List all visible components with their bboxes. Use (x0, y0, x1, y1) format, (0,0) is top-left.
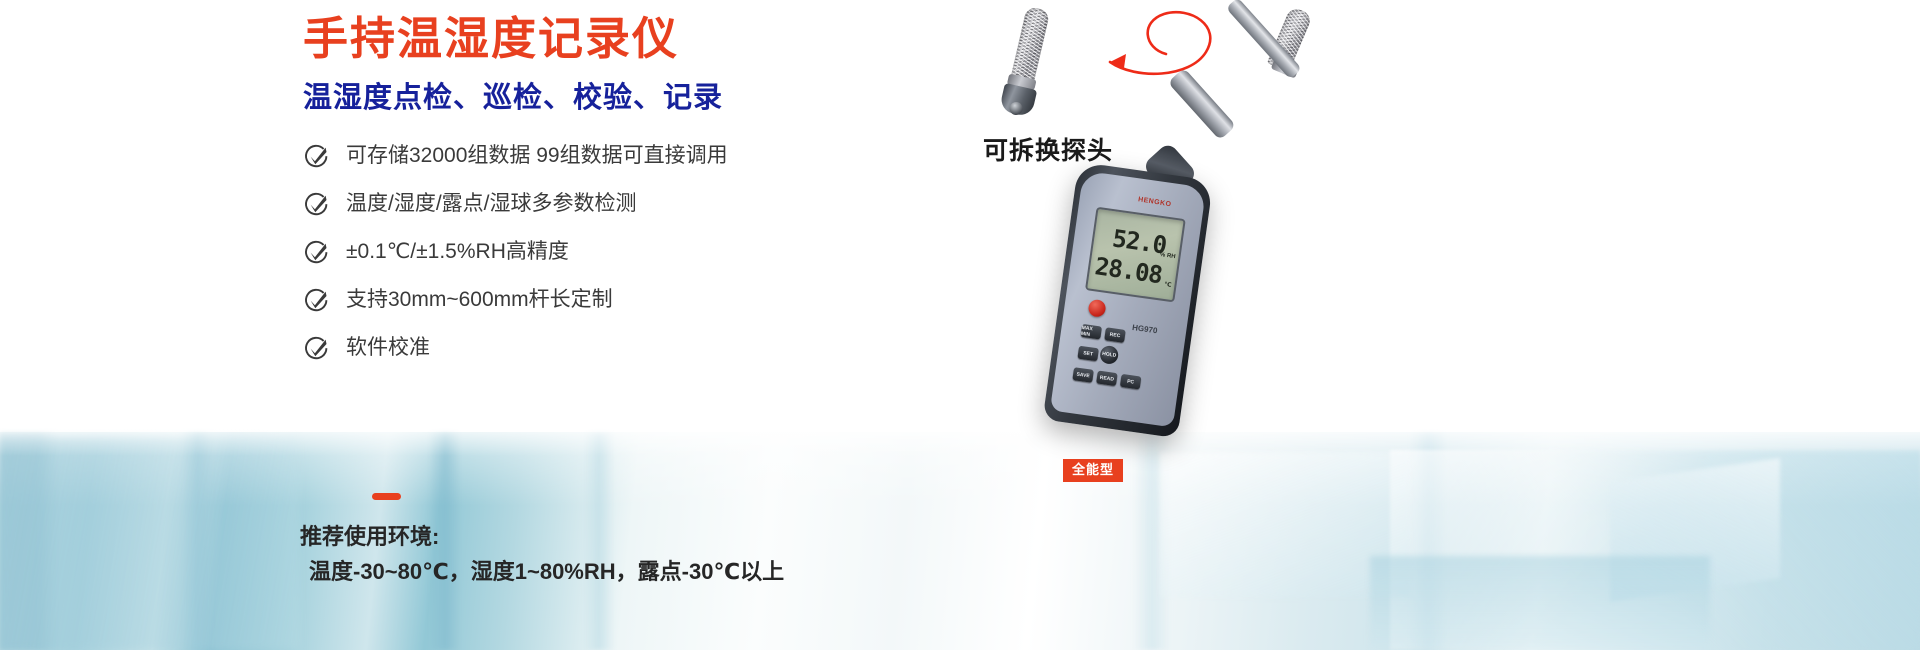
brand-logo: HENGKO (1138, 196, 1172, 208)
page-subtitle: 温湿度点检、巡检、校验、记录 (303, 80, 723, 116)
check-circle-icon (303, 143, 330, 170)
list-item-label: 可存储32000组数据 99组数据可直接调用 (346, 143, 728, 169)
check-circle-icon (303, 287, 330, 314)
list-item-label: ±0.1℃/±1.5%RH高精度 (346, 239, 569, 265)
list-item: ±0.1℃/±1.5%RH高精度 (303, 228, 923, 276)
key-read[interactable]: READ (1096, 370, 1118, 386)
list-item: 可存储32000组数据 99组数据可直接调用 (303, 132, 923, 180)
red-divider-dash (372, 493, 401, 500)
list-item-label: 支持30mm~600mm杆长定制 (346, 287, 613, 313)
list-item-label: 温度/湿度/露点/湿球多参数检测 (346, 191, 637, 217)
check-circle-icon (303, 239, 330, 266)
product-banner: 手持温湿度记录仪 温湿度点检、巡检、校验、记录 可存储32000组数据 99组数… (0, 0, 1920, 650)
key-rec[interactable]: REC (1104, 327, 1126, 343)
temperature-unit: ℃ (1164, 281, 1172, 289)
power-button[interactable] (1087, 299, 1106, 318)
key-hold[interactable]: HOLD (1099, 345, 1119, 365)
environment-detail: 温度-30~80℃，湿度1~80%RH，露点-30℃以上 (309, 557, 784, 587)
key-pc[interactable]: PC (1120, 374, 1142, 390)
environment-heading: 推荐使用环境: (300, 522, 439, 552)
key-save[interactable]: SAVE (1072, 367, 1094, 383)
device-body: HENGKO 52.0 % RH 28.08 ℃ HG970 MAX MIN R… (1043, 162, 1214, 438)
probe-rod-lower (1168, 68, 1237, 141)
feature-list: 可存储32000组数据 99组数据可直接调用 温度/湿度/露点/湿球多参数检测 … (303, 132, 923, 372)
model-number: HG970 (1132, 323, 1158, 335)
background-blur-left (0, 436, 300, 650)
key-set[interactable]: SET (1077, 346, 1099, 362)
lcd-display: 52.0 % RH 28.08 ℃ (1085, 207, 1186, 303)
device-front-panel: HENGKO 52.0 % RH 28.08 ℃ HG970 MAX MIN R… (1050, 171, 1206, 428)
product-device: HENGKO 52.0 % RH 28.08 ℃ HG970 MAX MIN R… (1000, 0, 1380, 520)
list-item: 软件校准 (303, 324, 923, 372)
temperature-value: 28.08 (1093, 253, 1163, 288)
background-shelf-c (1370, 556, 1710, 650)
list-item-label: 软件校准 (346, 335, 430, 361)
list-item: 支持30mm~600mm杆长定制 (303, 276, 923, 324)
key-max-min[interactable]: MAX MIN (1080, 324, 1102, 340)
page-title: 手持温湿度记录仪 (303, 12, 679, 66)
list-item: 温度/湿度/露点/湿球多参数检测 (303, 180, 923, 228)
check-circle-icon (303, 335, 330, 362)
status-badge: 全能型 (1063, 459, 1123, 482)
background-fade (0, 420, 1920, 456)
check-circle-icon (303, 191, 330, 218)
